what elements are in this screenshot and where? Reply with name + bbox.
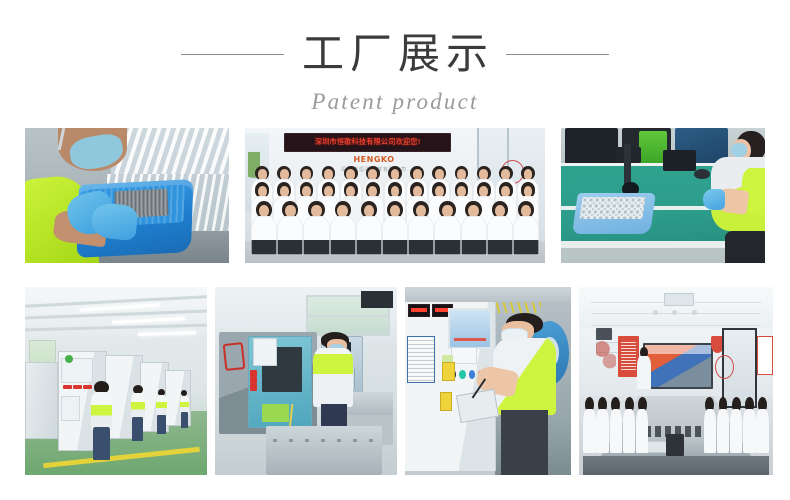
section-header: 工厂展示 Patent product (0, 0, 790, 120)
factory-showcase-page: 工厂展示 Patent product (0, 0, 790, 500)
photo-scene (215, 287, 397, 475)
photo-scene: 深圳市恒歌科技有限公司欢迎您! HENGKO 深圳市恒歌科技有限公司 (245, 128, 545, 263)
wall-logo-text: HENGKO (353, 156, 394, 164)
photo-assembly-packing[interactable] (25, 128, 229, 263)
photo-cnc-lathe[interactable] (215, 287, 397, 475)
attendees-right (703, 396, 769, 456)
title-row: 工厂展示 (0, 28, 790, 80)
operator-figure (156, 389, 167, 434)
operator-figure (91, 381, 113, 460)
machine-brand-badge-icon (223, 342, 246, 371)
led-banner: 深圳市恒歌科技有限公司欢迎您! (284, 133, 451, 151)
photo-scene (561, 128, 765, 263)
photo-production-line[interactable] (25, 287, 207, 475)
presentation-screen (643, 343, 713, 388)
photo-gallery: 深圳市恒歌科技有限公司欢迎您! HENGKO 深圳市恒歌科技有限公司 (25, 128, 765, 475)
photo-scene (25, 128, 229, 263)
attendees-left (583, 396, 649, 456)
gallery-row-top: 深圳市恒歌科技有限公司欢迎您! HENGKO 深圳市恒歌科技有限公司 (25, 128, 765, 263)
decorative-rule-left-icon (181, 54, 284, 55)
operator-figure (131, 385, 146, 441)
presenter-figure (637, 347, 651, 388)
decorative-rule-right-icon (506, 54, 609, 55)
speaker-icon (596, 328, 612, 339)
group-row-front (251, 201, 539, 255)
technician-figure (491, 313, 557, 475)
page-title: 工厂展示 (292, 29, 498, 79)
operator-figure (180, 390, 189, 428)
page-subtitle: Patent product (0, 88, 790, 116)
gallery-row-bottom (25, 287, 765, 475)
photo-company-group[interactable]: 深圳市恒歌科技有限公司欢迎您! HENGKO 深圳市恒歌科技有限公司 (245, 128, 545, 263)
photo-scene (405, 287, 571, 475)
wall-logo: HENGKO (335, 155, 413, 164)
projector-icon (664, 293, 693, 306)
led-banner-text: 深圳市恒歌科技有限公司欢迎您! (314, 139, 420, 146)
photo-meeting-room[interactable] (579, 287, 773, 475)
photo-microscope-inspection[interactable] (561, 128, 765, 263)
photo-scene (25, 287, 207, 475)
inspector-figure (700, 131, 765, 263)
photo-qc-recording[interactable] (405, 287, 571, 475)
photo-scene (579, 287, 773, 475)
